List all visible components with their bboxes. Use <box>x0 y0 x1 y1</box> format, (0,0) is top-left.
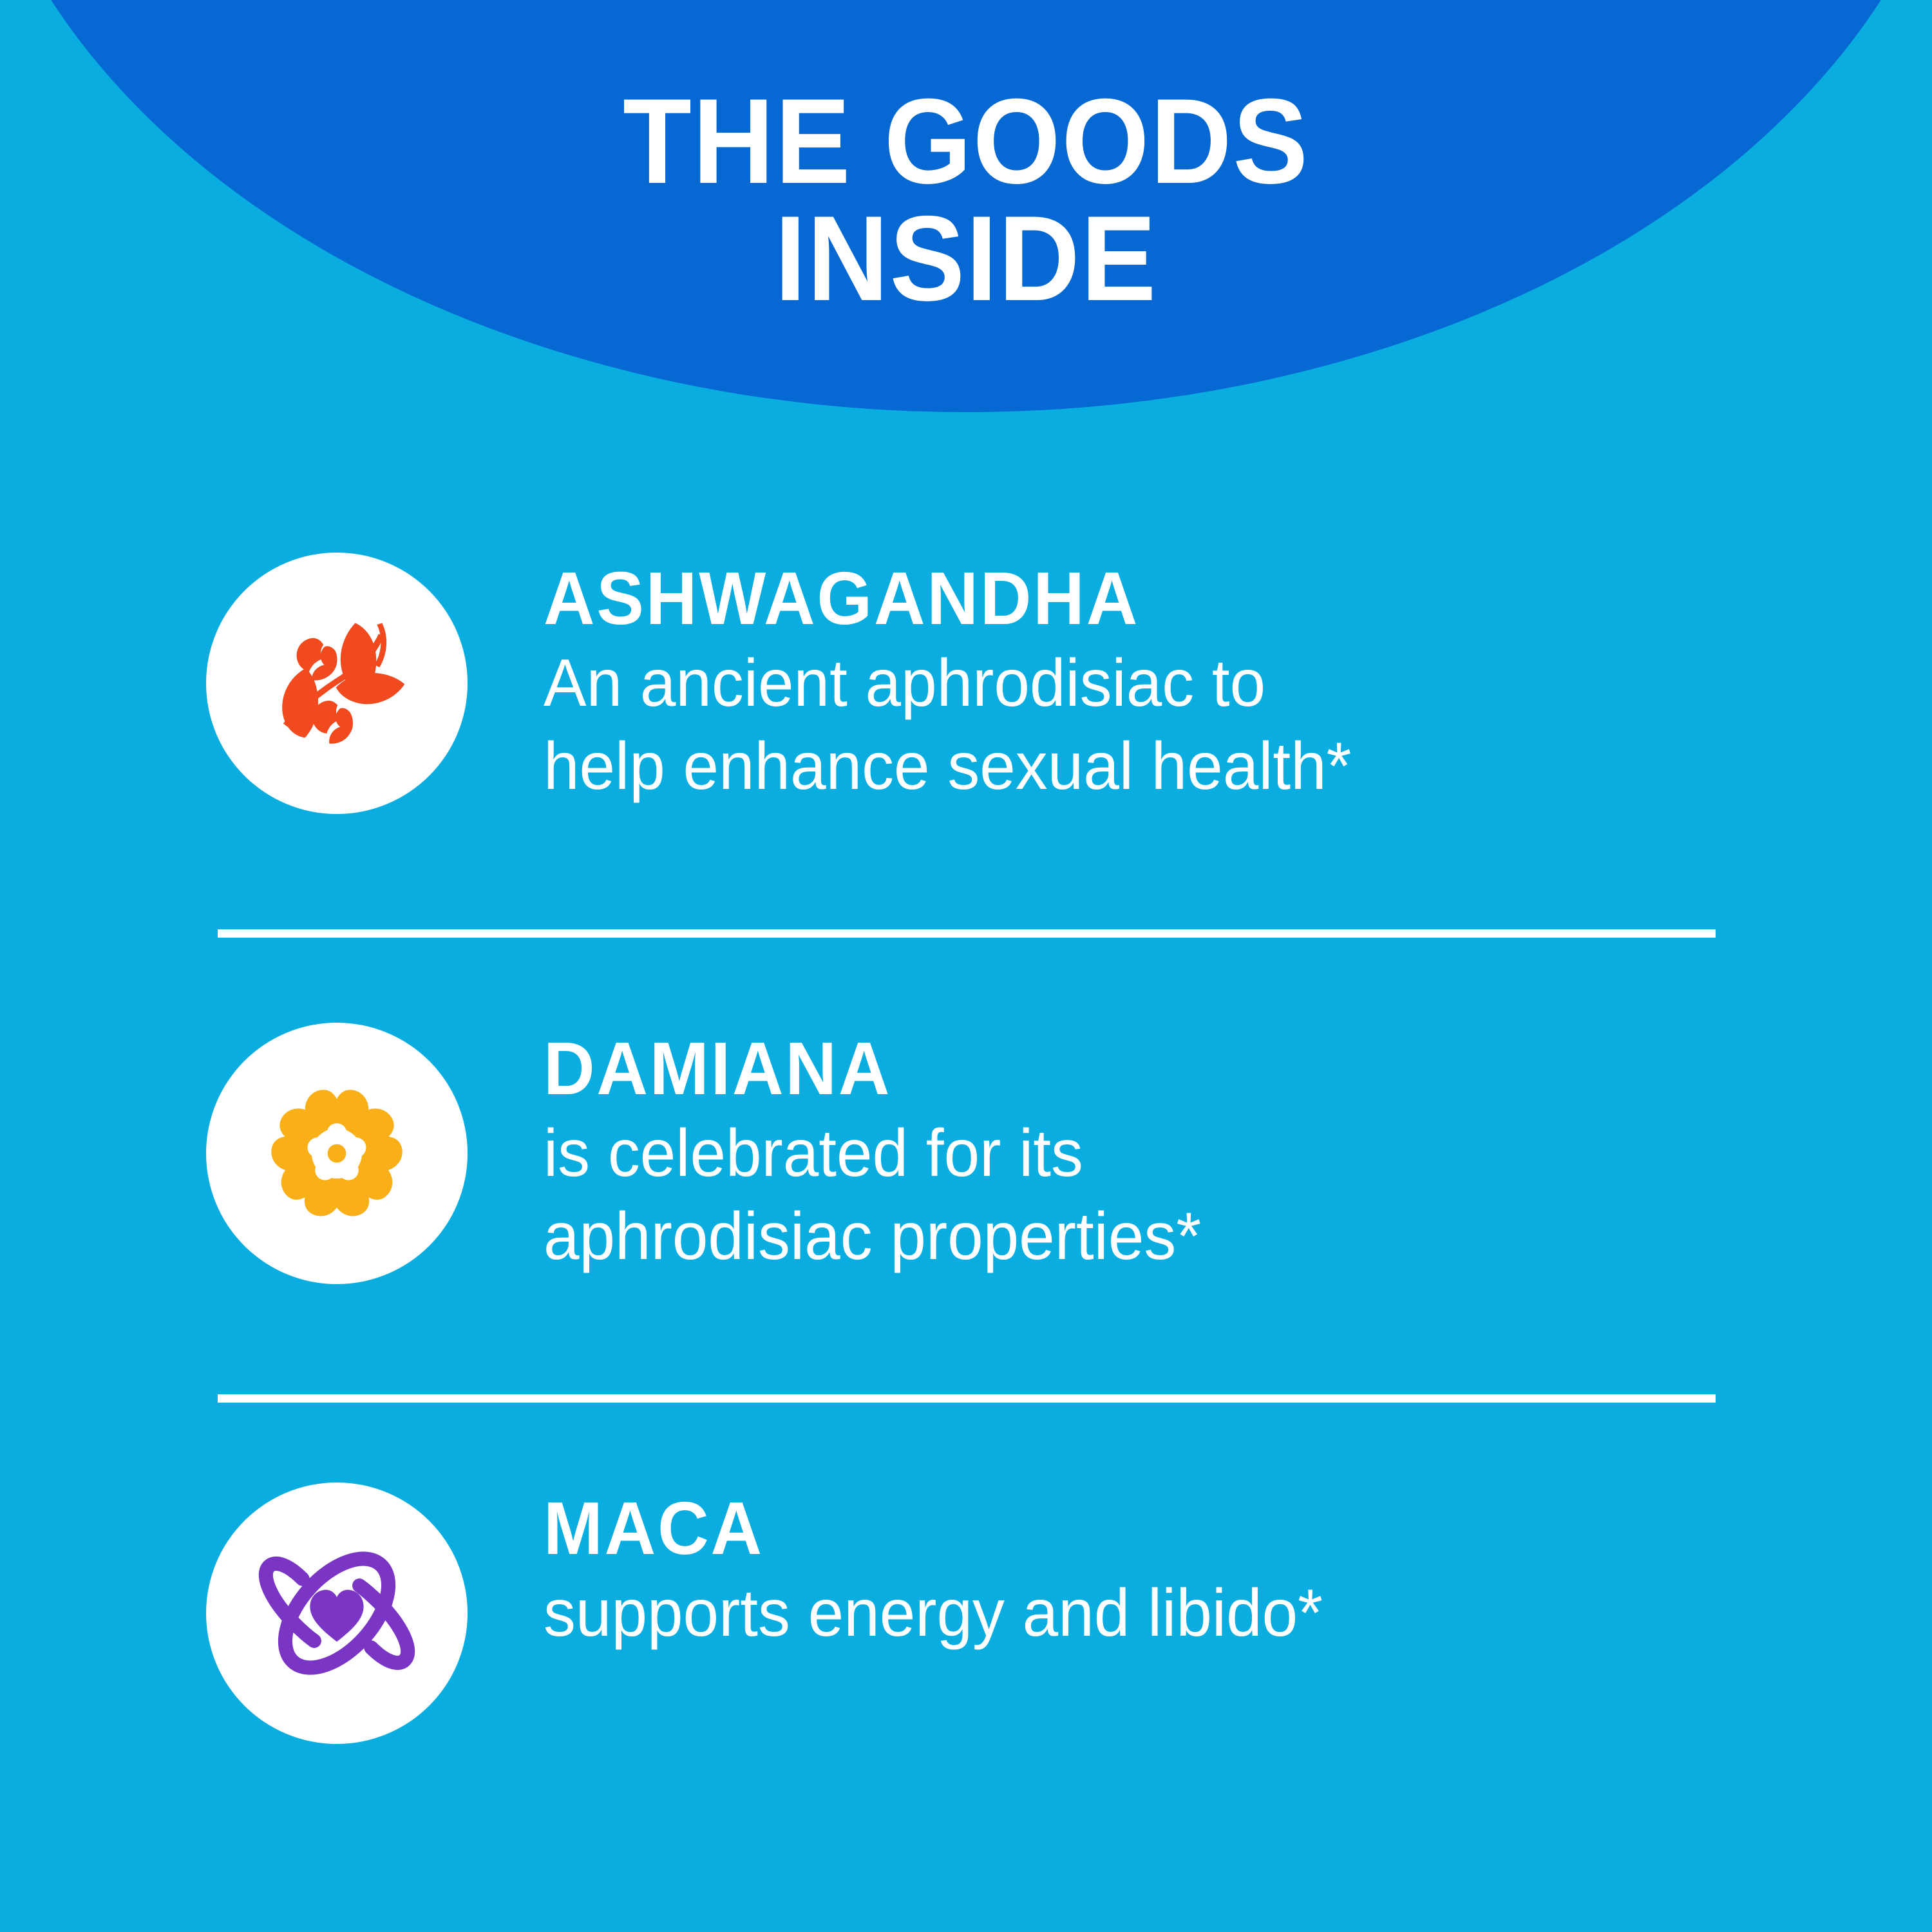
ingredient-text-maca: MACA supports energy and libido* <box>468 1482 1726 1655</box>
ingredient-name-ashwagandha: ASHWAGANDHA <box>544 559 1667 638</box>
ingredient-name-maca: MACA <box>544 1489 1667 1568</box>
ingredient-row-ashwagandha: ASHWAGANDHA An ancient aphrodisiac to he… <box>206 553 1726 814</box>
ashwagandha-plant-icon <box>253 600 421 767</box>
ingredient-text-damiana: DAMIANA is celebrated for its aphrodisia… <box>468 1023 1726 1278</box>
ingredient-icon-badge-ashwagandha <box>206 553 468 814</box>
maca-atom-heart-icon <box>253 1529 421 1697</box>
ingredient-icon-badge-damiana <box>206 1023 468 1284</box>
page-title: THE GOODS INSIDE <box>68 82 1864 317</box>
ingredient-description-maca: supports energy and libido* <box>544 1572 1679 1655</box>
ingredient-description-ashwagandha: An ancient aphrodisiac to help enhance s… <box>544 642 1679 808</box>
damiana-flower-icon <box>253 1070 421 1237</box>
ingredient-icon-badge-maca <box>206 1482 468 1744</box>
ingredient-row-damiana: DAMIANA is celebrated for its aphrodisia… <box>206 1023 1726 1284</box>
ingredient-name-damiana: DAMIANA <box>544 1029 1667 1108</box>
ingredient-text-ashwagandha: ASHWAGANDHA An ancient aphrodisiac to he… <box>468 553 1726 808</box>
ingredient-description-damiana: is celebrated for its aphrodisiac proper… <box>544 1112 1679 1278</box>
infographic-canvas: THE GOODS INSIDE <box>0 0 1932 1932</box>
ingredient-row-maca: MACA supports energy and libido* <box>206 1482 1726 1744</box>
